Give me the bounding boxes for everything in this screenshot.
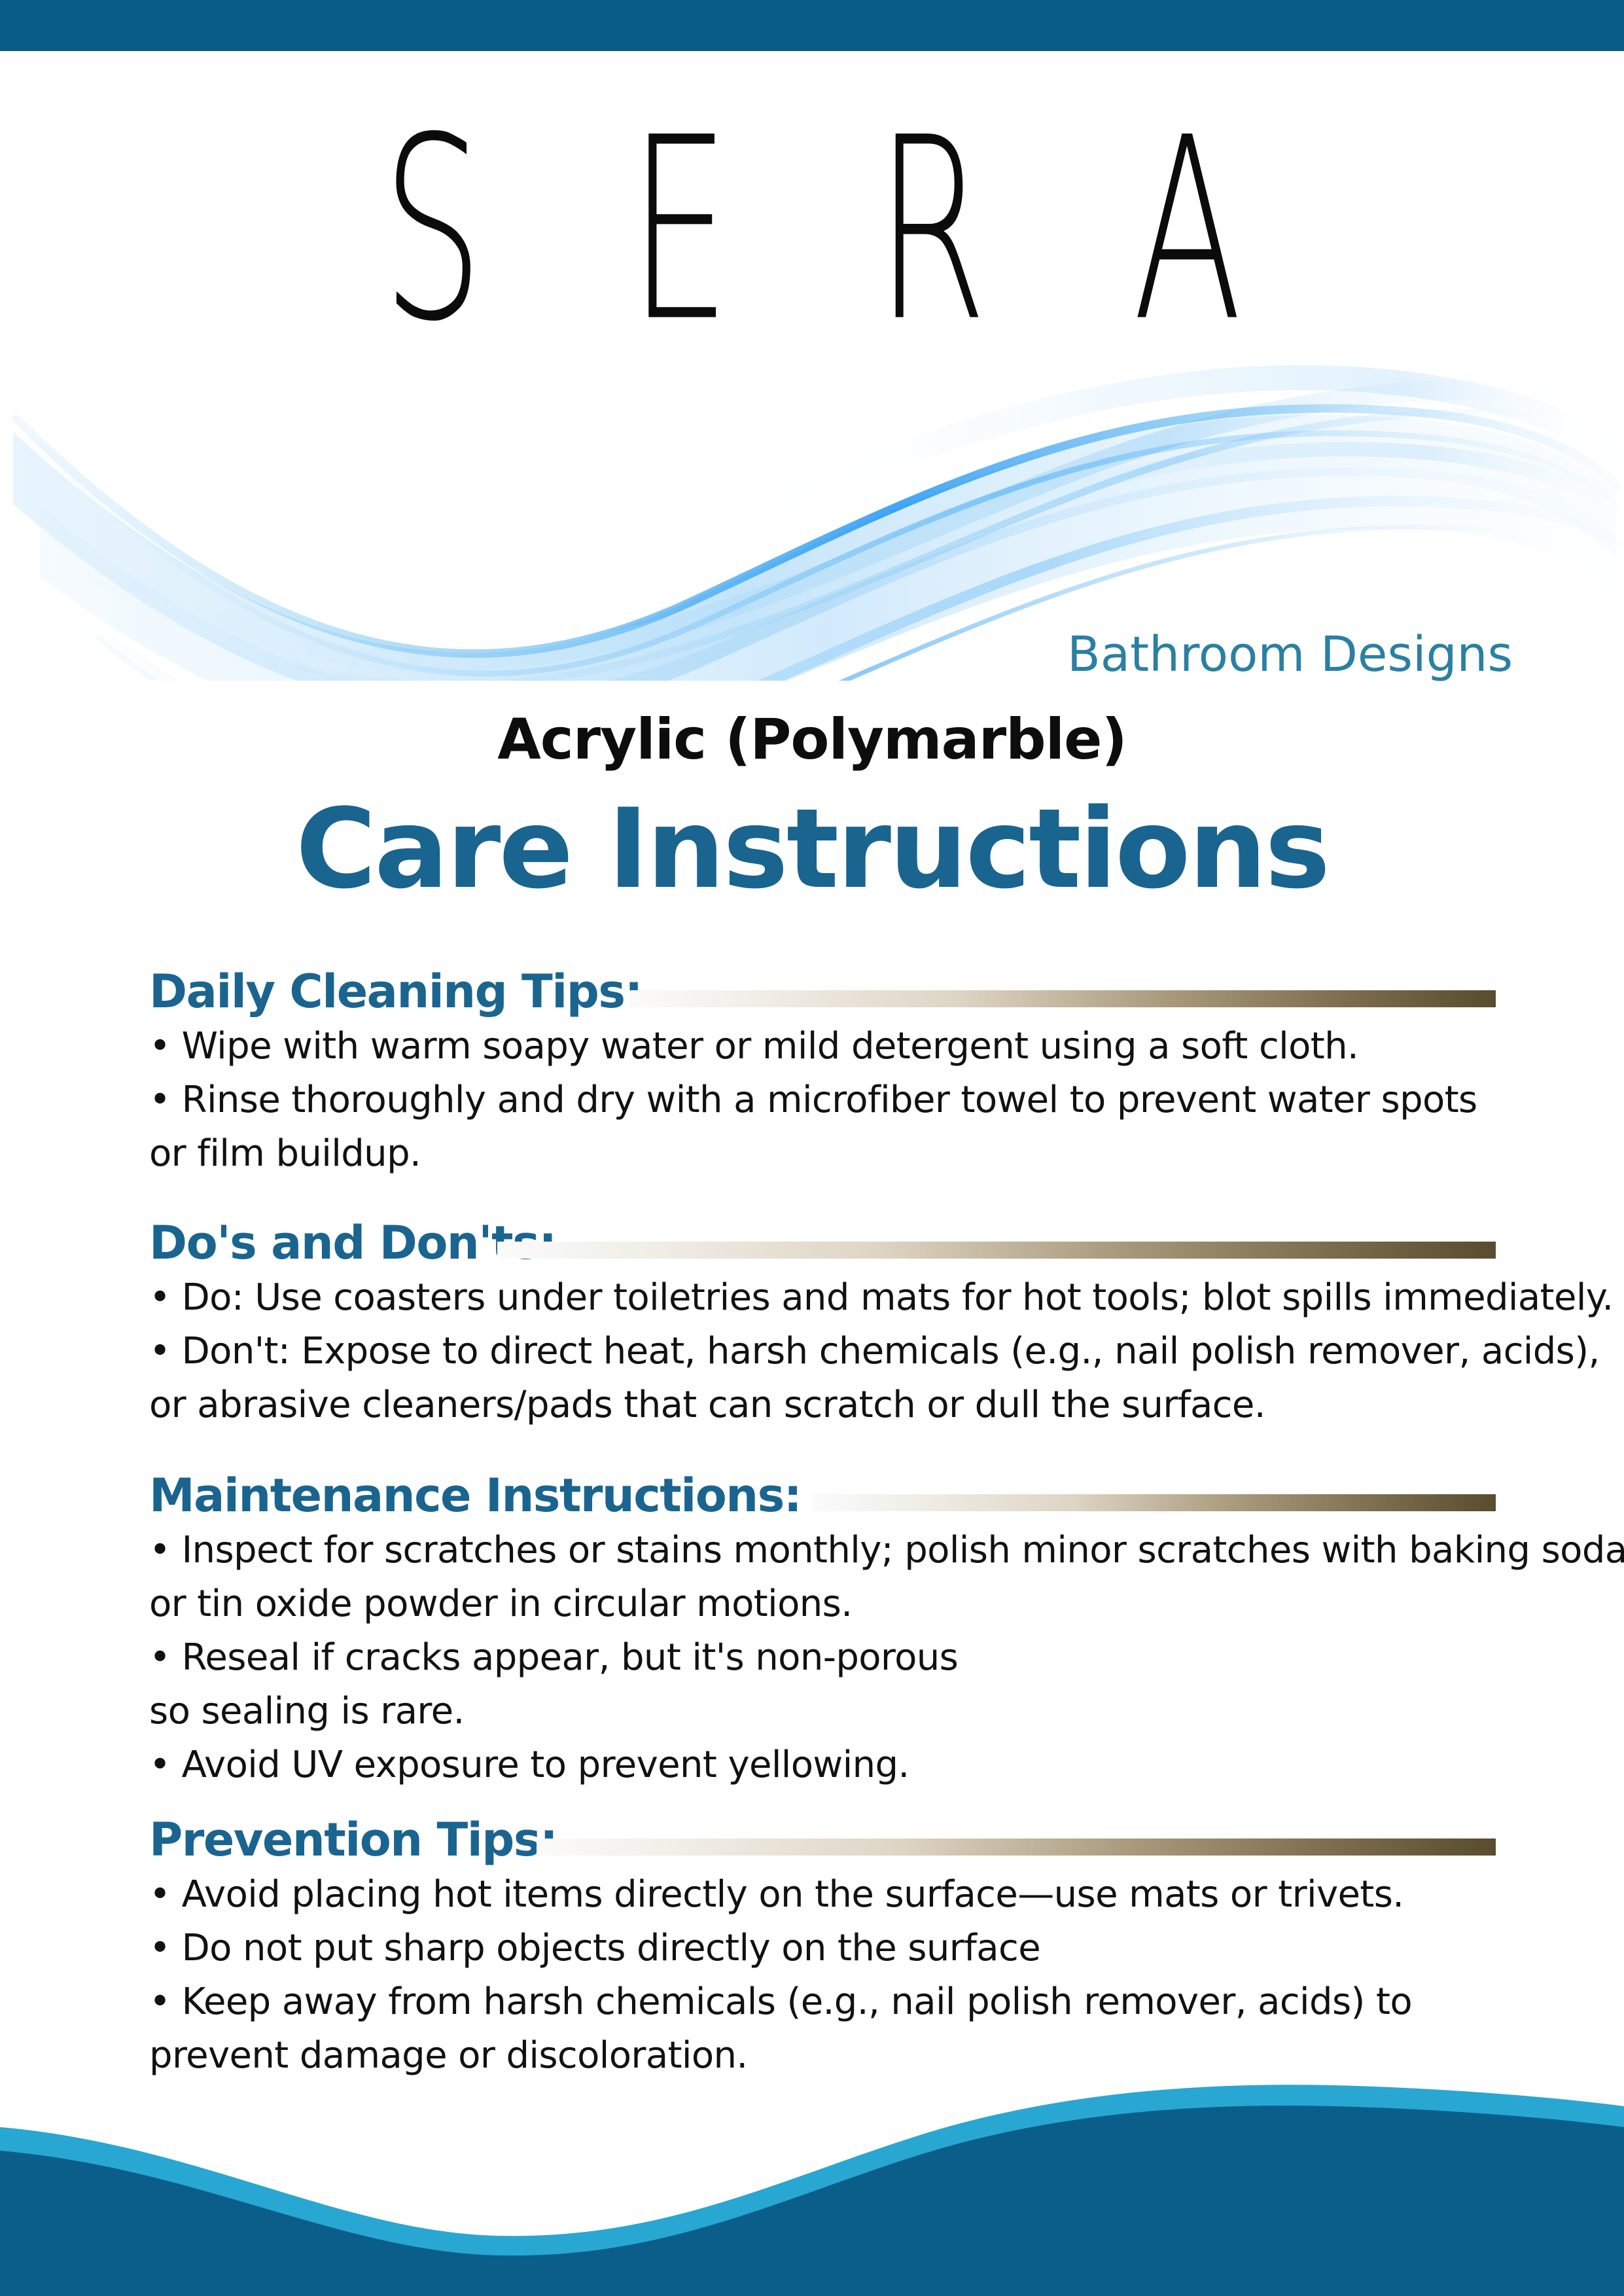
section-rule-divider	[628, 990, 1496, 1007]
top-accent-bar	[0, 0, 1624, 51]
content-body: Daily Cleaning Tips: • Wipe with warm so…	[149, 967, 1504, 2083]
bullet-line: • Inspect for scratches or stains monthl…	[149, 1524, 1504, 1577]
bullet-list: • Wipe with warm soapy water or mild det…	[149, 1020, 1504, 1181]
bullet-line: prevent damage or discoloration.	[149, 2029, 1504, 2083]
section-rule-divider	[813, 1494, 1496, 1511]
page-title: Care Instructions	[0, 791, 1624, 907]
section-heading-label: Prevention Tips:	[149, 1816, 557, 1864]
section-daily-cleaning-tips: Daily Cleaning Tips: • Wipe with warm so…	[149, 967, 1504, 1181]
section-header: Prevention Tips:	[149, 1816, 1504, 1864]
section-spacer	[149, 1181, 1504, 1219]
section-rule-divider	[497, 1242, 1496, 1259]
bullet-line: or tin oxide powder in circular motions.	[149, 1577, 1504, 1631]
section-heading-label: Daily Cleaning Tips:	[149, 967, 642, 1016]
section-header: Daily Cleaning Tips:	[149, 967, 1504, 1016]
bullet-line: so sealing is rare.	[149, 1685, 1504, 1738]
section-rule-divider	[537, 1839, 1496, 1856]
section-maintenance-instructions: Maintenance Instructions: • Inspect for …	[149, 1471, 1504, 1792]
bullet-line: • Do not put sharp objects directly on t…	[149, 1922, 1504, 1975]
bullet-line: • Rinse thoroughly and dry with a microf…	[149, 1073, 1504, 1127]
section-header: Maintenance Instructions:	[149, 1471, 1504, 1520]
care-instructions-poster: S E R A	[0, 0, 1624, 2296]
bullet-list: • Avoid placing hot items directly on th…	[149, 1868, 1504, 2083]
bullet-line: • Avoid UV exposure to prevent yellowing…	[149, 1738, 1504, 1792]
bullet-line: or film buildup.	[149, 1127, 1504, 1181]
section-header: Do's and Don'ts:	[149, 1219, 1504, 1267]
bullet-line: • Avoid placing hot items directly on th…	[149, 1868, 1504, 1922]
section-heading-label: Maintenance Instructions:	[149, 1471, 801, 1520]
brand-logo: S E R A	[276, 105, 1348, 357]
bullet-line: • Keep away from harsh chemicals (e.g., …	[149, 1975, 1504, 2029]
section-spacer	[149, 1792, 1504, 1816]
section-prevention-tips: Prevention Tips: • Avoid placing hot ite…	[149, 1816, 1504, 2083]
section-heading-label: Do's and Don'ts:	[149, 1219, 556, 1267]
product-subtitle: Acrylic (Polymarble)	[0, 708, 1624, 771]
bullet-line: • Reseal if cracks appear, but it's non-…	[149, 1631, 1504, 1685]
bullet-line: • Do: Use coasters under toiletries and …	[149, 1271, 1504, 1325]
section-spacer	[149, 1432, 1504, 1471]
bullet-list: • Inspect for scratches or stains monthl…	[149, 1524, 1504, 1792]
bullet-line: or abrasive cleaners/pads that can scrat…	[149, 1378, 1504, 1432]
section-dos-and-donts: Do's and Don'ts: • Do: Use coasters unde…	[149, 1219, 1504, 1432]
bullet-line: • Wipe with warm soapy water or mild det…	[149, 1020, 1504, 1073]
bullet-list: • Do: Use coasters under toiletries and …	[149, 1271, 1504, 1432]
bullet-line: • Don't: Expose to direct heat, harsh ch…	[149, 1325, 1504, 1378]
footer-wave-graphic	[0, 2060, 1624, 2296]
brand-tagline: Bathroom Designs	[0, 628, 1513, 681]
